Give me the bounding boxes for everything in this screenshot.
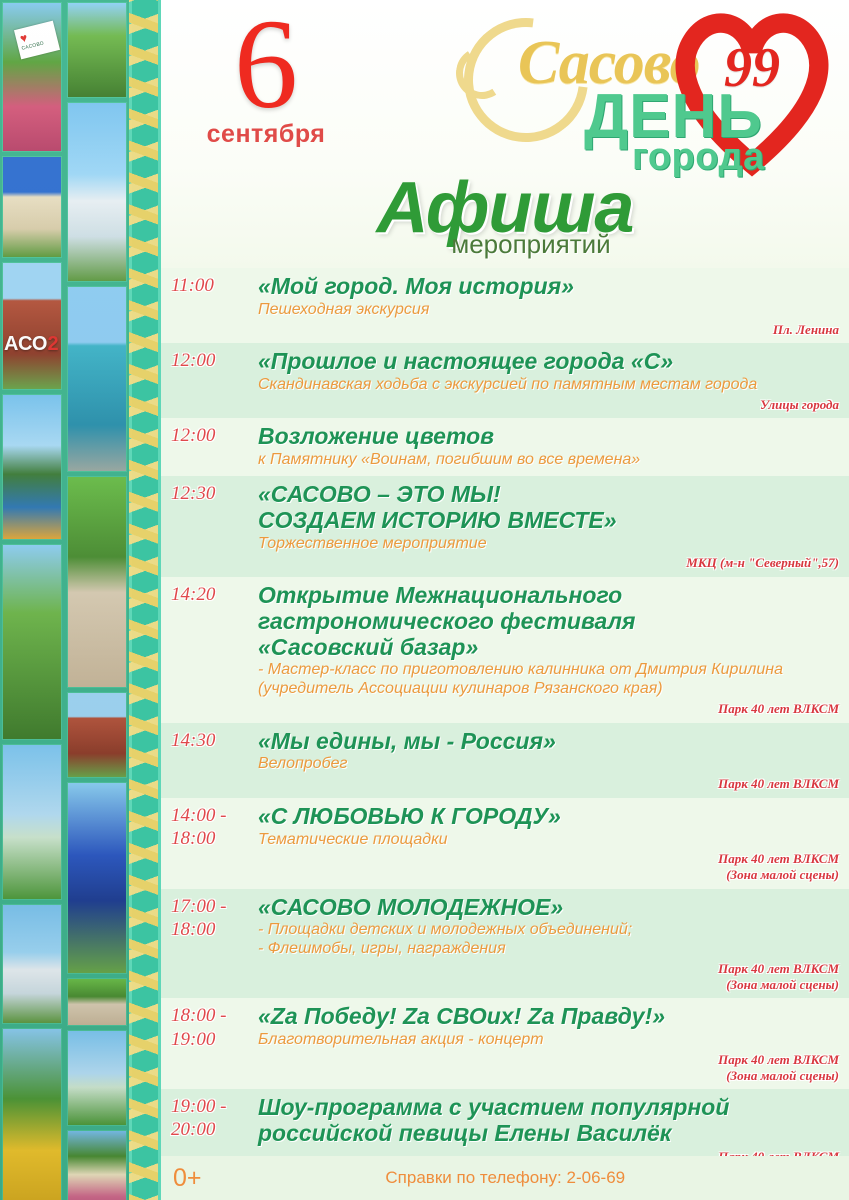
event-time: 12:00 bbox=[161, 424, 258, 447]
event-schedule-list: 11:00«Мой город. Моя история»Пешеходная … bbox=[161, 268, 849, 1200]
event-description: - Площадки детских и молодежных объедине… bbox=[258, 921, 839, 959]
event-venue: Улицы города bbox=[258, 397, 839, 413]
event-body: «С ЛЮБОВЬЮ К ГОРОДУ»Тематические площадк… bbox=[258, 804, 839, 883]
event-title: «САСОВО – ЭТО МЫ! СОЗДАЕМ ИСТОРИЮ ВМЕСТЕ… bbox=[258, 482, 839, 534]
collage-photo bbox=[2, 744, 62, 900]
event-time: 14:20 bbox=[161, 583, 258, 606]
braid-chain-pattern bbox=[129, 0, 161, 1200]
event-body: «Прошлое и настоящее города «С»Скандинав… bbox=[258, 349, 839, 412]
collage-photo bbox=[2, 156, 62, 258]
event-row: 11:00«Мой город. Моя история»Пешеходная … bbox=[161, 268, 849, 343]
event-title: «САСОВО МОЛОДЕЖНОЕ» bbox=[258, 895, 839, 921]
collage-photo bbox=[2, 394, 62, 540]
event-body: Открытие Межнационального гастрономическ… bbox=[258, 583, 839, 717]
event-venue: Парк 40 лет ВЛКСМ (Зона малой сцены) bbox=[258, 961, 839, 992]
event-row: 14:30«Мы едины, мы - Россия»ВелопробегПа… bbox=[161, 723, 849, 798]
event-body: «Мой город. Моя история»Пешеходная экску… bbox=[258, 274, 839, 337]
event-title: Открытие Межнационального гастрономическ… bbox=[258, 583, 839, 660]
event-time: 12:30 bbox=[161, 482, 258, 505]
event-row: 12:30«САСОВО – ЭТО МЫ! СОЗДАЕМ ИСТОРИЮ В… bbox=[161, 476, 849, 577]
event-row: 14:00 - 18:00«С ЛЮБОВЬЮ К ГОРОДУ»Тематич… bbox=[161, 798, 849, 889]
event-title: «С ЛЮБОВЬЮ К ГОРОДУ» bbox=[258, 804, 839, 830]
event-time: 14:30 bbox=[161, 729, 258, 752]
event-time: 12:00 bbox=[161, 349, 258, 372]
event-row: 12:00Возложение цветовк Памятнику «Воина… bbox=[161, 418, 849, 476]
collage-photo bbox=[67, 286, 127, 472]
event-row: 12:00«Прошлое и настоящее города «С»Скан… bbox=[161, 343, 849, 418]
event-description: Торжественное мероприятие bbox=[258, 535, 839, 554]
collage-photo bbox=[67, 978, 127, 1026]
event-venue: Парк 40 лет ВЛКСМ (Зона малой сцены) bbox=[258, 851, 839, 882]
date-day-number: 6 bbox=[186, 6, 346, 124]
collage-photo bbox=[67, 1030, 127, 1126]
event-row: 14:20Открытие Межнационального гастроном… bbox=[161, 577, 849, 723]
age-rating-badge: 0+ bbox=[173, 1164, 202, 1193]
photo-collage: ♥ САСОВО АСО2 bbox=[0, 0, 129, 1200]
event-body: «САСОВО – ЭТО МЫ! СОЗДАЕМ ИСТОРИЮ ВМЕСТЕ… bbox=[258, 482, 839, 571]
event-row: 17:00 - 18:00«САСОВО МОЛОДЕЖНОЕ»- Площад… bbox=[161, 889, 849, 999]
event-body: Возложение цветовк Памятнику «Воинам, по… bbox=[258, 424, 839, 470]
collage-photo: АСО2 bbox=[2, 262, 62, 390]
event-date: 6 сентября bbox=[186, 6, 346, 149]
event-title: «Мой город. Моя история» bbox=[258, 274, 839, 300]
event-body: «САСОВО МОЛОДЕЖНОЕ»- Площадки детских и … bbox=[258, 895, 839, 993]
event-time: 17:00 - 18:00 bbox=[161, 895, 258, 941]
city-heart-badge: ♥ САСОВО bbox=[14, 21, 60, 60]
event-time: 18:00 - 19:00 bbox=[161, 1004, 258, 1050]
event-venue: Парк 40 лет ВЛКСМ bbox=[258, 701, 839, 717]
event-description: Пешеходная экскурсия bbox=[258, 301, 839, 320]
poster-footer: 0+ Справки по телефону: 2-06-69 bbox=[161, 1156, 849, 1200]
collage-photo bbox=[67, 1130, 127, 1200]
collage-photo bbox=[67, 476, 127, 688]
city-day-logo: Сасово 99 ДЕНЬ города bbox=[456, 2, 846, 182]
event-time: 11:00 bbox=[161, 274, 258, 297]
collage-wall-text: АСО2 bbox=[4, 333, 59, 356]
date-month-label: сентября bbox=[186, 120, 346, 149]
logo-city-word: города bbox=[632, 138, 765, 176]
poster-title-block: Афиша мероприятий bbox=[161, 175, 849, 260]
event-description: - Мастер-класс по приготовлению калинник… bbox=[258, 661, 839, 699]
collage-column-left: ♥ САСОВО АСО2 bbox=[2, 0, 64, 1200]
main-panel: 6 сентября Сасово 99 ДЕНЬ города Афиша м… bbox=[161, 0, 849, 1200]
collage-photo bbox=[2, 544, 62, 740]
event-time: 14:00 - 18:00 bbox=[161, 804, 258, 850]
event-time: 19:00 - 20:00 bbox=[161, 1095, 258, 1141]
event-description: к Памятнику «Воинам, погибшим во все вре… bbox=[258, 451, 839, 470]
event-row: 18:00 - 19:00«Za Победу! Za СВОих! Za Пр… bbox=[161, 998, 849, 1089]
event-venue: Парк 40 лет ВЛКСМ bbox=[258, 776, 839, 792]
event-venue: Пл. Ленина bbox=[258, 322, 839, 338]
event-title: Шоу-программа с участием популярной росс… bbox=[258, 1095, 839, 1147]
collage-photo bbox=[67, 102, 127, 282]
collage-photo bbox=[67, 2, 127, 98]
event-venue: МКЦ (м-н "Северный",57) bbox=[258, 555, 839, 571]
event-description: Скандинавская ходьба с экскурсией по пам… bbox=[258, 376, 839, 395]
event-title: «Za Победу! Za СВОих! Za Правду!» bbox=[258, 1004, 839, 1030]
event-body: «Мы едины, мы - Россия»ВелопробегПарк 40… bbox=[258, 729, 839, 792]
collage-photo bbox=[2, 904, 62, 1024]
collage-photo bbox=[67, 782, 127, 974]
contact-phone-line: Справки по телефону: 2-06-69 bbox=[202, 1168, 849, 1188]
heart-icon: ♥ bbox=[19, 31, 29, 44]
event-title: «Прошлое и настоящее города «С» bbox=[258, 349, 839, 375]
event-title: «Мы едины, мы - Россия» bbox=[258, 729, 839, 755]
poster-header: 6 сентября Сасово 99 ДЕНЬ города Афиша м… bbox=[161, 0, 849, 268]
poster: ♥ САСОВО АСО2 bbox=[0, 0, 849, 1200]
collage-photo: ♥ САСОВО bbox=[2, 2, 62, 152]
event-description: Благотворительная акция - концерт bbox=[258, 1031, 839, 1050]
collage-photo bbox=[2, 1028, 62, 1200]
braided-border-divider bbox=[129, 0, 161, 1200]
event-body: «Za Победу! Za СВОих! Za Правду!»Благотв… bbox=[258, 1004, 839, 1083]
event-description: Велопробег bbox=[258, 755, 839, 774]
event-title: Возложение цветов bbox=[258, 424, 839, 450]
collage-photo bbox=[67, 692, 127, 778]
event-description: Тематические площадки bbox=[258, 831, 839, 850]
collage-column-right bbox=[67, 0, 129, 1200]
page-subtitle: мероприятий bbox=[161, 229, 849, 260]
event-venue: Парк 40 лет ВЛКСМ (Зона малой сцены) bbox=[258, 1052, 839, 1083]
